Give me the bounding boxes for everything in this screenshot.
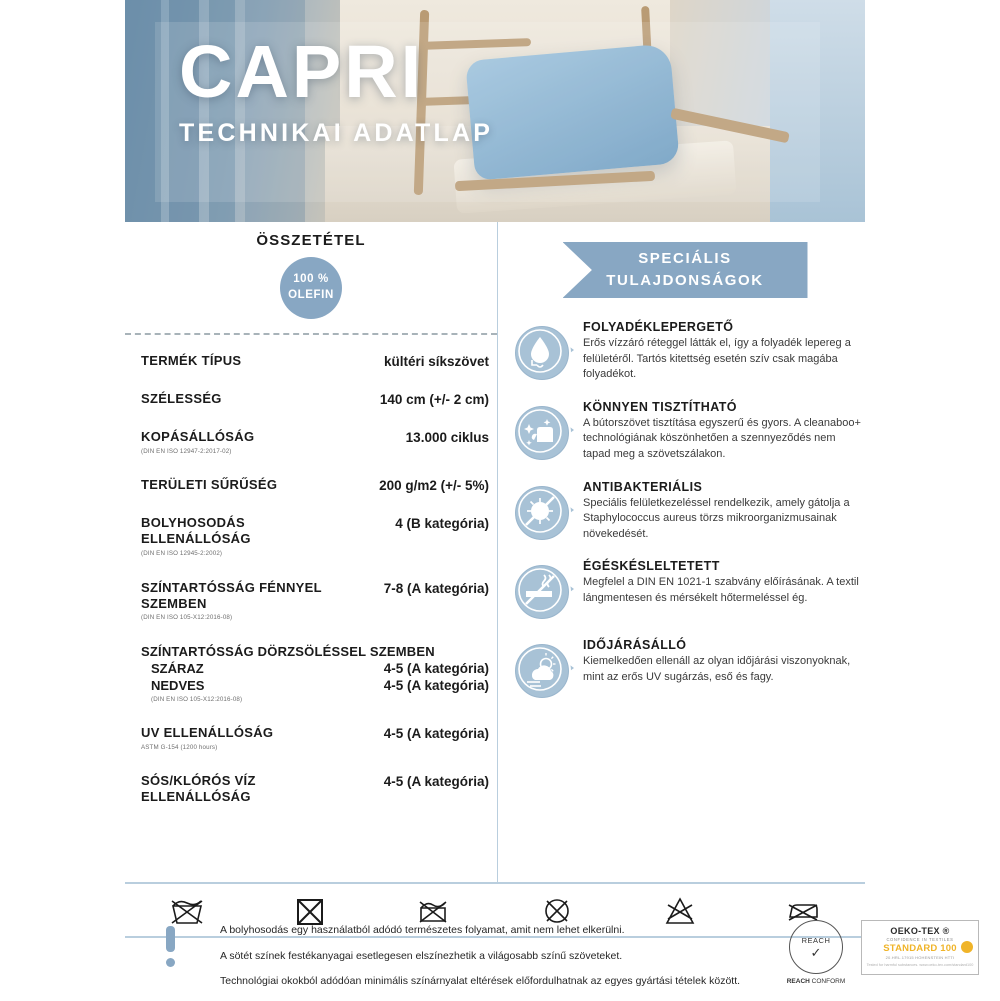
disclaimer-note: A bolyhosodás egy használatból adódó ter… xyxy=(220,924,740,938)
specifications-column: ÖSSZETÉTEL 100 % OLEFIN TERMÉK TÍPUS kül… xyxy=(125,222,497,827)
hero-text-block: CAPRI TECHNIKAI ADATLAP xyxy=(179,36,493,148)
table-row: SZÍNTARTÓSSÁG FÉNNYEL SZEMBEN (DIN EN IS… xyxy=(125,580,497,622)
rubbing-row-wet: NEDVES 4-5 (A kategória) xyxy=(141,678,489,693)
composition-badge: 100 % OLEFIN xyxy=(280,257,342,319)
spec-value: 4-5 (A kategória) xyxy=(384,773,489,789)
hero-banner: CAPRI TECHNIKAI ADATLAP xyxy=(125,0,865,222)
feature-description: Kiemelkedően ellenáll az olyan időjárási… xyxy=(583,654,865,685)
water-drop-icon xyxy=(511,322,573,382)
spec-label: NEDVES xyxy=(151,678,204,693)
exclamation-icon xyxy=(165,926,175,967)
spec-label: TERÜLETI SŰRŰSÉG xyxy=(141,477,277,492)
disclaimer-notes: A bolyhosodás egy használatból adódó ter… xyxy=(220,924,740,1001)
datasheet-page: CAPRI TECHNIKAI ADATLAP ÖSSZETÉTEL 100 %… xyxy=(0,0,1000,1000)
spec-value: 4 (B kategória) xyxy=(395,515,489,531)
table-row: KOPÁSÁLLÓSÁG (DIN EN ISO 12947-2:2017-02… xyxy=(125,429,497,455)
sun-icon xyxy=(961,941,973,953)
table-row: SÓS/KLÓRÓS VÍZ ELLENÁLLÓSÁG 4-5 (A kateg… xyxy=(125,773,497,805)
feature-description: Speciális felületkezeléssel rendelkezik,… xyxy=(583,496,865,543)
spec-label: BOLYHOSODÁS ELLENÁLLÓSÁG xyxy=(141,515,251,546)
ribbon-line-1: SPECIÁLIS xyxy=(638,248,732,270)
feature-title: ANTIBAKTERIÁLIS xyxy=(583,480,865,494)
exclamation-dot xyxy=(166,958,175,967)
spec-label: SZÍNTARTÓSSÁG FÉNNYEL SZEMBEN xyxy=(141,580,322,611)
spec-standard: (DIN EN ISO 105-X12:2016-08) xyxy=(141,696,489,703)
table-row: TERÜLETI SŰRŰSÉG 200 g/m2 (+/- 5%) xyxy=(125,477,497,493)
list-item: ANTIBAKTERIÁLIS Speciális felületkezelés… xyxy=(511,480,865,543)
spec-label: SZÉLESSÉG xyxy=(141,391,222,406)
spec-table: TERMÉK TÍPUS kültéri síkszövet SZÉLESSÉG… xyxy=(125,353,497,805)
oeko-certificate-number: 20.HRL.17915 HOHENSTEIN HTTI xyxy=(866,955,974,960)
features-ribbon-banner: SPECIÁLIS TULAJDONSÁGOK xyxy=(563,242,808,298)
spec-standard: (DIN EN ISO 12945-2:2002) xyxy=(141,550,301,558)
spec-standard: ASTM G-154 (1200 hours) xyxy=(141,744,273,752)
oeko-tex-logo: OEKO-TEX ® CONFIDENCE IN TEXTILES STANDA… xyxy=(861,920,979,975)
composition-material: OLEFIN xyxy=(288,288,334,304)
disclaimer-note: A sötét színek festékanyagai esetlegesen… xyxy=(220,950,740,964)
list-item: ÉGÉSKÉSLELTETETT Megfelel a DIN EN 1021-… xyxy=(511,559,865,621)
special-features-column: SPECIÁLIS TULAJDONSÁGOK FOLYADÉKLEP xyxy=(505,222,865,717)
spec-label: UV ELLENÁLLÓSÁG xyxy=(141,725,273,740)
product-name: CAPRI xyxy=(179,36,493,107)
oeko-title: OEKO-TEX ® xyxy=(866,926,974,936)
oeko-subtitle: CONFIDENCE IN TEXTILES xyxy=(866,937,974,942)
reach-conform-logo: REACH ✓ REACH CONFORM xyxy=(785,920,847,985)
dashed-separator xyxy=(125,333,497,335)
spec-value: 7-8 (A kategória) xyxy=(384,580,489,596)
spec-label: KOPÁSÁLLÓSÁG xyxy=(141,429,254,444)
table-row: SZÉLESSÉG 140 cm (+/- 2 cm) xyxy=(125,391,497,407)
reach-label: REACH CONFORM xyxy=(785,978,847,985)
rubbing-title: SZÍNTARTÓSSÁG DÖRZSÖLÉSSEL SZEMBEN xyxy=(141,644,489,659)
feature-description: Erős vízzáró réteggel látták el, így a f… xyxy=(583,336,865,383)
feature-description: A bútorszövet tisztítása egyszerű és gyo… xyxy=(583,416,865,463)
feature-title: ÉGÉSKÉSLELTETETT xyxy=(583,559,865,573)
spec-value: 140 cm (+/- 2 cm) xyxy=(380,391,489,407)
spec-label: SÓS/KLÓRÓS VÍZ ELLENÁLLÓSÁG xyxy=(141,773,256,804)
table-row-rubbing: SZÍNTARTÓSSÁG DÖRZSÖLÉSSEL SZEMBEN SZÁRA… xyxy=(125,644,497,703)
column-divider xyxy=(497,222,498,882)
disclaimer-note: Technológiai okokból adódóan minimális s… xyxy=(220,975,860,989)
oeko-standard: STANDARD 100 xyxy=(866,943,974,954)
spec-value: 4-5 (A kategória) xyxy=(384,678,489,693)
list-item: IDŐJÁRÁSÁLLÓ Kiemelkedően ellenáll az ol… xyxy=(511,638,865,700)
spec-standard: (DIN EN ISO 105-X12:2016-08) xyxy=(141,614,346,622)
spec-label: TERMÉK TÍPUS xyxy=(141,353,241,368)
certification-logos: REACH ✓ REACH CONFORM OEKO-TEX ® CONFIDE… xyxy=(785,920,979,985)
reach-label-rest: CONFORM xyxy=(810,978,845,985)
cleaning-hand-icon xyxy=(511,402,573,462)
spec-value: 200 g/m2 (+/- 5%) xyxy=(379,477,489,493)
feature-title: KÖNNYEN TISZTÍTHATÓ xyxy=(583,400,865,414)
document-type: TECHNIKAI ADATLAP xyxy=(179,119,493,148)
spec-standard: (DIN EN ISO 12947-2:2017-02) xyxy=(141,448,254,456)
list-item: KÖNNYEN TISZTÍTHATÓ A bútorszövet tisztí… xyxy=(511,400,865,463)
no-bacteria-icon xyxy=(511,482,573,542)
rubbing-row-dry: SZÁRAZ 4-5 (A kategória) xyxy=(141,661,489,676)
features-list: FOLYADÉKLEPERGETŐ Erős vízzáró réteggel … xyxy=(505,320,865,700)
footer-disclaimer: A bolyhosodás egy használatból adódó ter… xyxy=(125,918,865,998)
feature-title: FOLYADÉKLEPERGETŐ xyxy=(583,320,865,334)
no-smoking-flame-icon xyxy=(511,561,573,621)
composition-heading: ÖSSZETÉTEL xyxy=(125,222,497,249)
weather-sun-cloud-icon xyxy=(511,640,573,700)
table-row: TERMÉK TÍPUS kültéri síkszövet xyxy=(125,353,497,369)
feature-description: Megfelel a DIN EN 1021-1 szabvány előírá… xyxy=(583,575,865,606)
feature-title: IDŐJÁRÁSÁLLÓ xyxy=(583,638,865,652)
ribbon-line-2: TULAJDONSÁGOK xyxy=(606,270,763,292)
oeko-footnote: Tested for harmful substances. www.oeko-… xyxy=(866,963,974,969)
reach-label-bold: REACH xyxy=(787,978,810,985)
spec-value: 4-5 (A kategória) xyxy=(384,725,489,741)
exclamation-bar xyxy=(166,926,175,952)
spec-value: kültéri síkszövet xyxy=(384,353,489,369)
check-icon: ✓ xyxy=(811,946,822,959)
spec-value: 4-5 (A kategória) xyxy=(384,661,489,676)
table-row: BOLYHOSODÁS ELLENÁLLÓSÁG (DIN EN ISO 129… xyxy=(125,515,497,557)
reach-seal-text: REACH xyxy=(802,936,831,945)
table-row: UV ELLENÁLLÓSÁG ASTM G-154 (1200 hours) … xyxy=(125,725,497,751)
composition-percent: 100 % xyxy=(293,272,329,288)
list-item: FOLYADÉKLEPERGETŐ Erős vízzáró réteggel … xyxy=(511,320,865,383)
reach-seal: REACH ✓ xyxy=(789,920,843,974)
spec-value: 13.000 ciklus xyxy=(406,429,489,445)
spec-label: SZÁRAZ xyxy=(151,661,204,676)
